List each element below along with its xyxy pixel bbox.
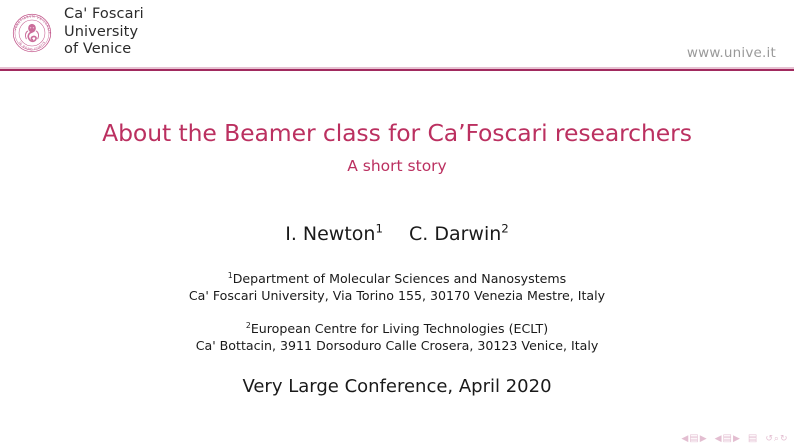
affiliation-institution: 2European Centre for Living Technologies…: [0, 321, 794, 338]
nav-group-frame[interactable]: ◀ ▤ ▶: [714, 434, 740, 444]
author-entry: C. Darwin2: [409, 222, 509, 246]
nav-group-slide[interactable]: ◀ ▤ ▶: [681, 434, 707, 444]
nav-forward-icon[interactable]: ↻: [780, 434, 788, 444]
nav-prev-slide-icon[interactable]: ◀: [681, 434, 688, 444]
author-affiliation-marker: 1: [375, 222, 383, 236]
slide-header: VENETIARVM VNIVERSITAS IN BONO FORTIS Ca…: [0, 0, 794, 72]
brand-line-1: Ca' Foscari: [64, 6, 144, 24]
nav-prev-frame-icon[interactable]: ◀: [715, 434, 722, 444]
nav-group-section[interactable]: ▤: [747, 434, 757, 444]
affiliation-institution-name: European Centre for Living Technologies …: [251, 321, 548, 336]
header-divider: [0, 69, 794, 71]
affiliation-institution-name: Department of Molecular Sciences and Nan…: [233, 271, 566, 286]
presentation-title: About the Beamer class for Ca’Foscari re…: [0, 118, 794, 148]
nav-search-icon[interactable]: ⌕: [774, 434, 779, 444]
nav-section-indicator-icon[interactable]: ▤: [748, 434, 757, 444]
university-seal-icon: VENETIARVM VNIVERSITAS IN BONO FORTIS: [8, 7, 56, 59]
nav-next-frame-icon[interactable]: ▶: [733, 434, 740, 444]
affiliation-address: Ca' Bottacin, 3911 Dorsoduro Calle Crose…: [0, 338, 794, 355]
author-name: C. Darwin: [409, 223, 501, 245]
affiliation-address: Ca' Foscari University, Via Torino 155, …: [0, 288, 794, 305]
affiliation-institution: 1Department of Molecular Sciences and Na…: [0, 271, 794, 288]
affiliation-entry: 2European Centre for Living Technologies…: [0, 321, 794, 354]
nav-next-slide-icon[interactable]: ▶: [700, 434, 707, 444]
brand-name: Ca' Foscari University of Venice: [64, 6, 144, 59]
slide-title-page: VENETIARVM VNIVERSITAS IN BONO FORTIS Ca…: [0, 0, 794, 447]
nav-slide-indicator-icon[interactable]: ▤: [689, 434, 698, 444]
author-affiliation-marker: 2: [501, 222, 509, 236]
nav-group-history[interactable]: ↺ ⌕ ↻: [765, 434, 788, 444]
affiliation-list: 1Department of Molecular Sciences and Na…: [0, 271, 794, 354]
presentation-subtitle: A short story: [0, 156, 794, 176]
brand-line-3: of Venice: [64, 41, 144, 59]
author-list: I. Newton1C. Darwin2: [0, 222, 794, 246]
author-entry: I. Newton1: [285, 222, 383, 246]
author-name: I. Newton: [285, 223, 375, 245]
affiliation-entry: 1Department of Molecular Sciences and Na…: [0, 271, 794, 304]
brand-line-2: University: [64, 24, 144, 42]
conference-date: Very Large Conference, April 2020: [0, 375, 794, 399]
beamer-navigation-bar[interactable]: ◀ ▤ ▶ ◀ ▤ ▶ ▤ ↺ ⌕ ↻: [681, 434, 788, 444]
title-block: About the Beamer class for Ca’Foscari re…: [0, 118, 794, 176]
website-url[interactable]: www.unive.it: [687, 45, 776, 61]
nav-back-icon[interactable]: ↺: [765, 434, 773, 444]
nav-frame-indicator-icon[interactable]: ▤: [723, 434, 732, 444]
university-brand: VENETIARVM VNIVERSITAS IN BONO FORTIS Ca…: [8, 6, 144, 59]
